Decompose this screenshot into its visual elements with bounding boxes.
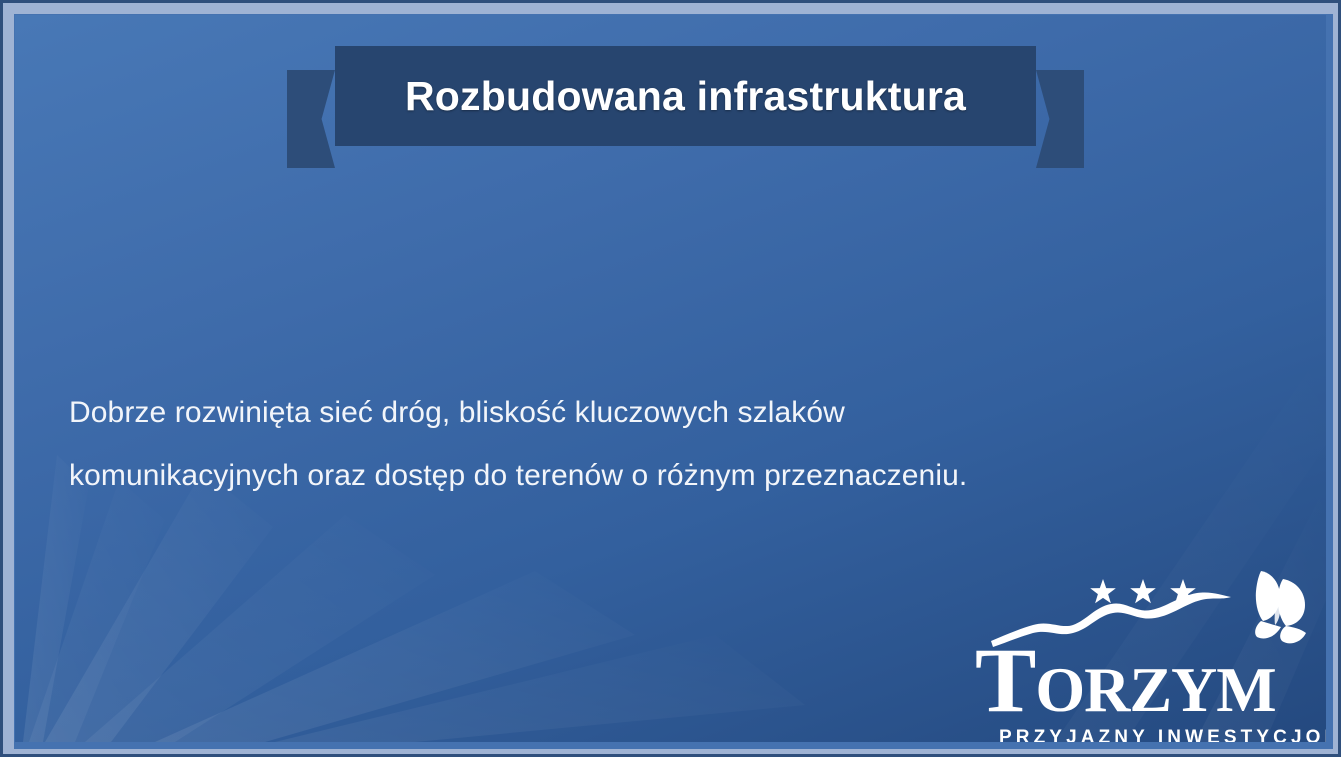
- torzym-logo: Torzym PRZYJAZNY INWESTYCJOM: [975, 563, 1326, 742]
- page-title: Rozbudowana infrastruktura: [405, 73, 966, 120]
- logo-tagline: PRZYJAZNY INWESTYCJOM: [999, 727, 1326, 742]
- title-ribbon: Rozbudowana infrastruktura: [287, 46, 1084, 168]
- ribbon-tail-right-icon: [1036, 70, 1084, 168]
- torzym-logo-graphic: Torzym PRZYJAZNY INWESTYCJOM: [975, 563, 1326, 742]
- slide-canvas: Rozbudowana infrastruktura Dobrze rozwin…: [15, 15, 1326, 742]
- ribbon-tail-left-icon: [287, 70, 335, 168]
- ribbon-panel: Rozbudowana infrastruktura: [335, 46, 1036, 146]
- body-text: Dobrze rozwinięta sieć dróg, bliskość kl…: [69, 381, 1269, 507]
- logo-wordmark: Torzym: [975, 629, 1276, 731]
- body-text-line: komunikacyjnych oraz dostęp do terenów o…: [69, 444, 1269, 507]
- slide-frame: Rozbudowana infrastruktura Dobrze rozwin…: [0, 0, 1341, 757]
- body-text-line: Dobrze rozwinięta sieć dróg, bliskość kl…: [69, 381, 1269, 444]
